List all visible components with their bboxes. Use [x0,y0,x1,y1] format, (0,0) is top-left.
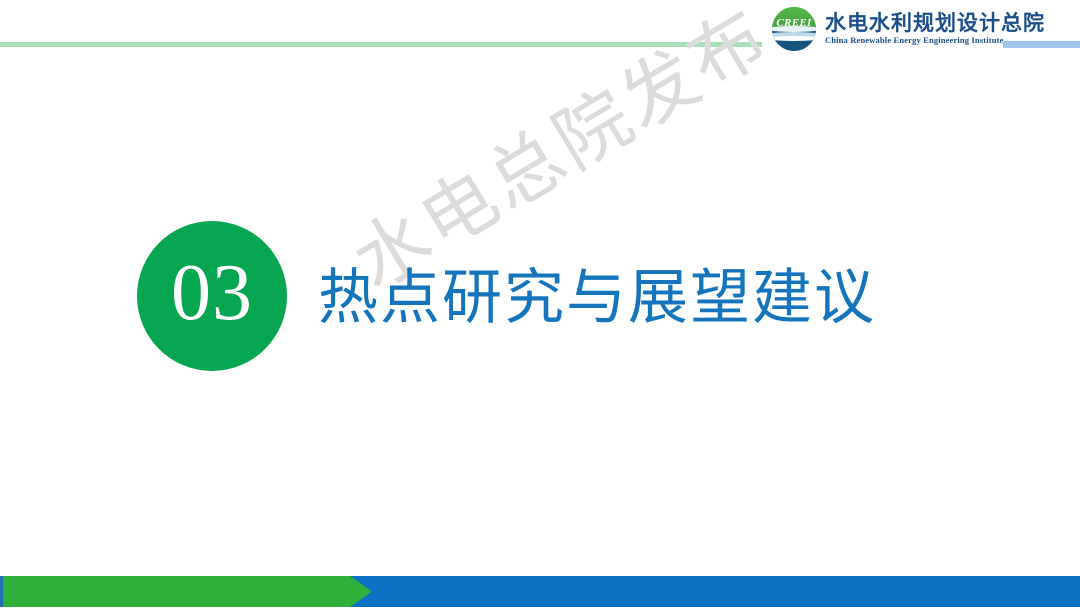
footer-bar [0,576,1080,607]
footer-left-edge [0,576,3,607]
logo-name-en: China Renewable Energy Engineering Insti… [825,35,1045,46]
logo-mark-text: CREEI [772,18,816,29]
logo-wordmark: 水电水利规划设计总院 China Renewable Energy Engine… [825,12,1045,46]
section-number-badge: 03 [137,221,287,371]
footer-green-chevron [0,576,372,607]
creei-logo: CREEI 水电水利规划设计总院 China Renewable Energy … [772,6,1045,52]
header-rule-green [0,42,762,47]
slide-canvas: CREEI 水电水利规划设计总院 China Renewable Energy … [0,0,1080,608]
section-number: 03 [171,253,253,339]
logo-name-cn: 水电水利规划设计总院 [825,12,1045,35]
creei-logo-icon: CREEI [772,7,816,51]
section-title: 热点研究与展望建议 [318,262,876,334]
